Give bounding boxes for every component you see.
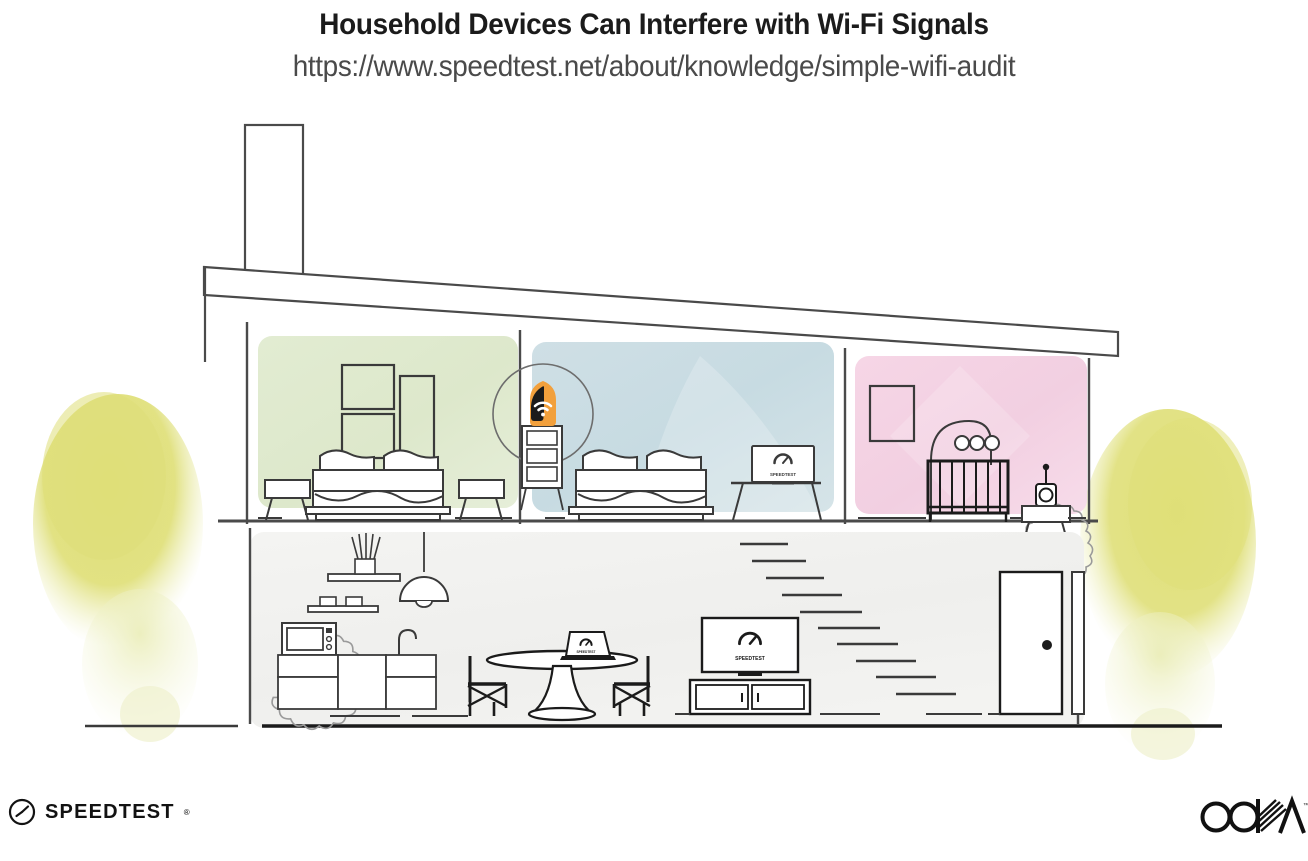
router-badge[interactable]: [530, 381, 556, 426]
ookla-trademark: ™: [1303, 802, 1308, 809]
tv-screen-label: SPEEDTEST: [735, 656, 765, 662]
ookla-logo: ™: [1196, 795, 1308, 844]
infographic-page: Household Devices Can Interfere with Wi-…: [0, 0, 1308, 861]
front-door[interactable]: [988, 572, 1062, 714]
laptop-screen-label: SPEEDTEST: [577, 650, 596, 654]
speedtest-trademark: ®: [184, 808, 190, 817]
tv-speedtest[interactable]: SPEEDTEST: [702, 618, 798, 676]
lower-floor: SPEEDTEST: [85, 528, 1222, 729]
door-knob-icon: [1042, 640, 1052, 650]
page-url: https://www.speedtest.net/about/knowledg…: [46, 50, 1262, 84]
tree-left: [33, 392, 203, 742]
monitor-speedtest: SPEEDTEST: [752, 446, 814, 485]
ookla-wordmark: ™: [1196, 795, 1308, 839]
house-illustration: SPEEDTEST: [0, 104, 1308, 764]
bedroom-green: [258, 336, 518, 520]
tree-right: [1080, 409, 1256, 760]
window-right: [1072, 572, 1084, 714]
bedroom-blue: SPEEDTEST: [532, 342, 834, 520]
chimney: [245, 125, 303, 275]
monitor-screen-label: SPEEDTEST: [770, 472, 796, 477]
speedtest-wordmark: SPEEDTEST: [45, 801, 175, 824]
page-title: Household Devices Can Interfere with Wi-…: [46, 8, 1262, 42]
gauge-icon: [8, 798, 36, 826]
crib: [928, 461, 1008, 522]
speedtest-logo: SPEEDTEST ®: [8, 798, 190, 826]
